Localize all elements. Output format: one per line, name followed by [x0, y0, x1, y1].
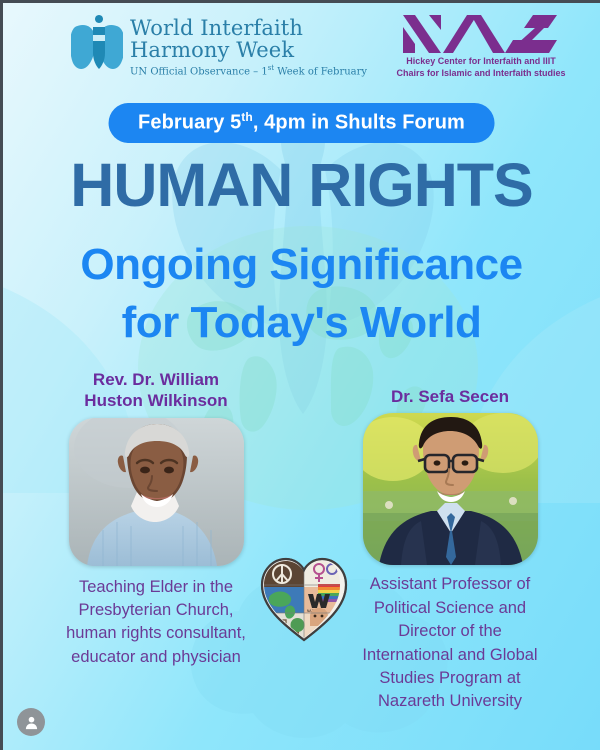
- wihw-logo-line2: Harmony Week: [130, 39, 367, 61]
- speaker-card-secen: Dr. Sefa Secen: [345, 369, 555, 714]
- event-date-badge: February 5th, 4pm in Shults Forum: [108, 103, 495, 143]
- poster-subtitle-line1: Ongoing Significance: [80, 240, 522, 289]
- naz-logo-subtitle-line2: Chairs for Islamic and Interfaith studie…: [381, 67, 581, 79]
- event-poster: World Interfaith Harmony Week UN Officia…: [0, 0, 600, 750]
- portrait-wilkinson-icon: [69, 418, 244, 566]
- speaker-card-wilkinson: Rev. Dr. William Huston Wilkinson: [51, 369, 261, 669]
- logo-row: World Interfaith Harmony Week UN Officia…: [3, 11, 600, 85]
- portrait-secen-icon: [363, 413, 538, 565]
- naz-wordmark-icon: [401, 13, 561, 55]
- person-avatar-icon[interactable]: [17, 708, 45, 736]
- speaker-name-line1: Dr. Sefa Secen: [345, 386, 555, 407]
- world-interfaith-harmony-week-logo: World Interfaith Harmony Week UN Officia…: [71, 15, 367, 77]
- speaker-name-line2: Huston Wilkinson: [51, 390, 261, 411]
- wihw-logo-line1: World Interfaith: [130, 17, 367, 39]
- wihw-logo-subtitle: UN Official Observance – 1st Week of Feb…: [130, 64, 367, 77]
- interfaith-heart-puzzle-badge: NAZARETH: [258, 554, 350, 642]
- person-glyph-icon: [24, 715, 39, 730]
- speaker-bio: Assistant Professor of Political Science…: [345, 573, 555, 714]
- heart-puzzle-icon: NAZARETH: [258, 554, 350, 642]
- speaker-photo: [69, 418, 244, 566]
- speaker-bio: Teaching Elder in the Presbyterian Churc…: [51, 576, 261, 670]
- speaker-name: Dr. Sefa Secen: [345, 369, 555, 407]
- naz-logo-subtitle-line1: Hickey Center for Interfaith and IIIT: [381, 55, 581, 67]
- speaker-name-line1: Rev. Dr. William: [51, 369, 261, 390]
- speaker-photo: [363, 413, 538, 565]
- poster-subtitle-line2: for Today's World: [3, 294, 600, 352]
- poster-subtitle: Ongoing Significance for Today's World: [3, 236, 600, 352]
- naz-logo: Hickey Center for Interfaith and IIIT Ch…: [381, 13, 581, 79]
- butterfly-person-logo-icon: [71, 15, 123, 71]
- speaker-name: Rev. Dr. William Huston Wilkinson: [51, 369, 261, 412]
- poster-title: HUMAN RIGHTS: [3, 155, 600, 216]
